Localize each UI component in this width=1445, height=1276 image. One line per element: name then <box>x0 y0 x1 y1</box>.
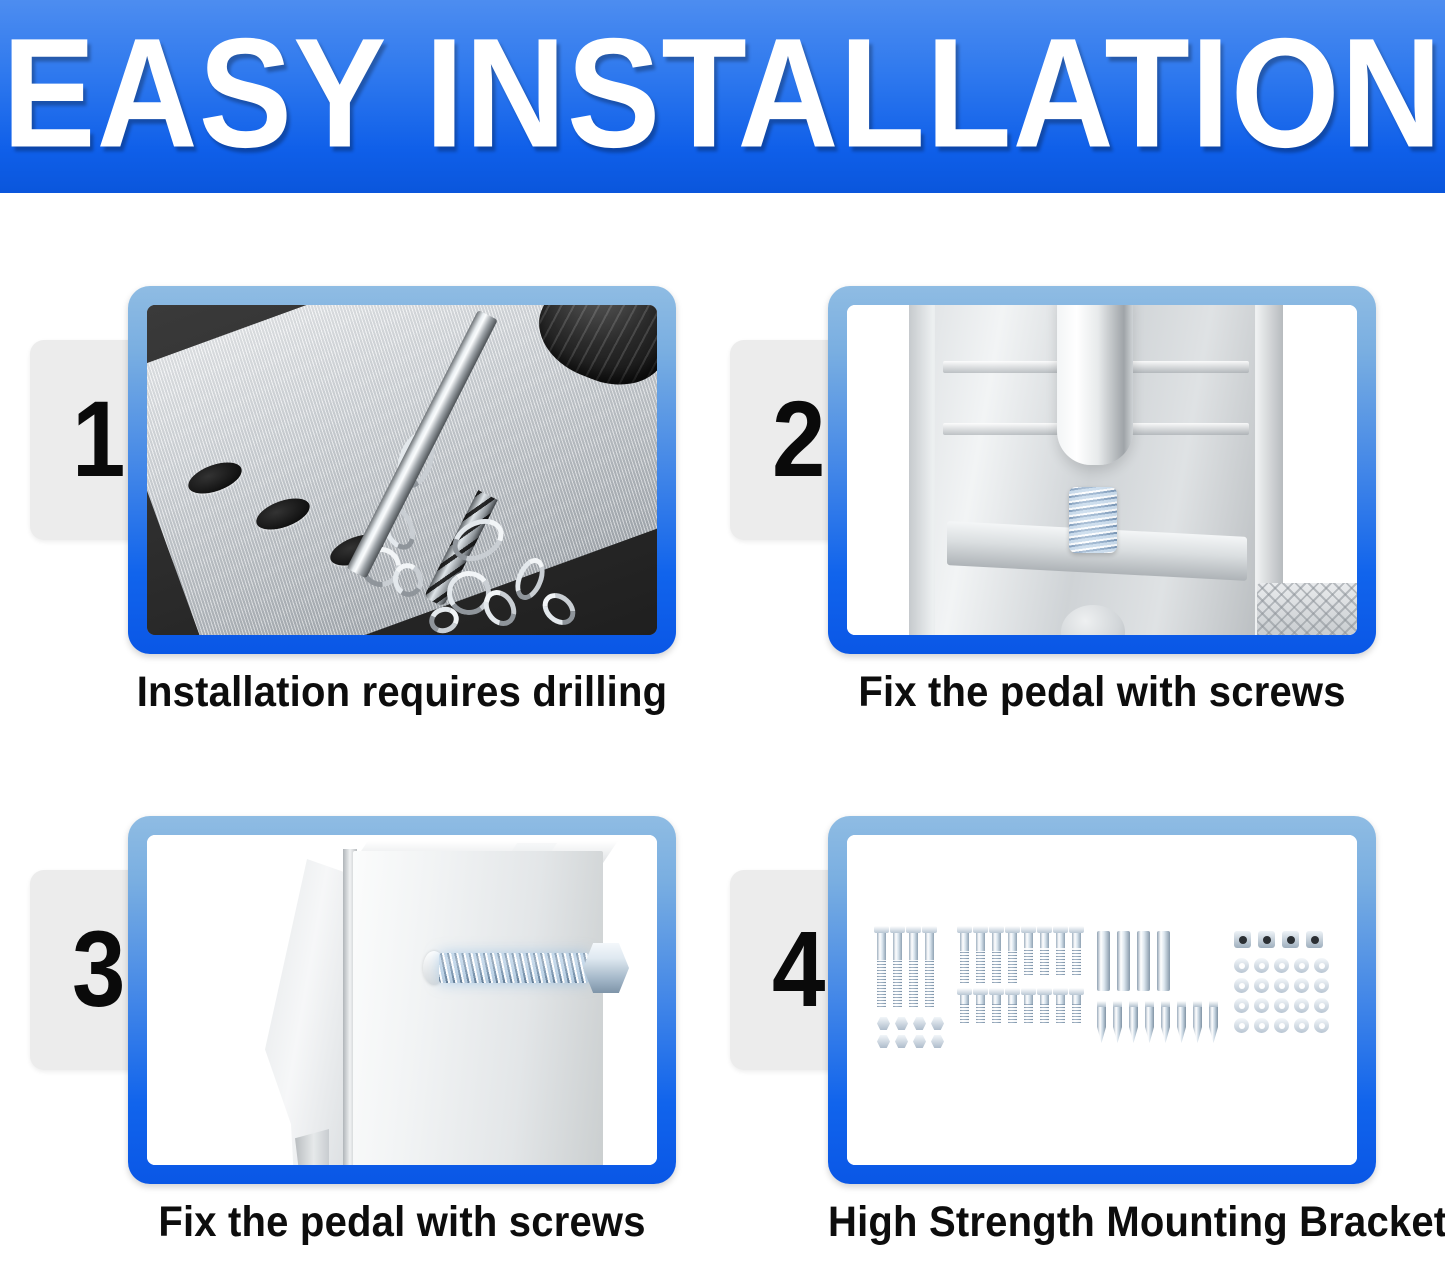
step-number-2: 2 <box>772 386 825 494</box>
washer-icon <box>1314 958 1329 973</box>
drilling-illustration <box>147 305 657 635</box>
medium-bolt-icon <box>960 931 969 983</box>
spacer-sleeve-icon <box>1097 931 1110 991</box>
easy-installation-infographic: EASY INSTALLATION 1 <box>0 0 1445 1276</box>
hex-nut-icon <box>913 1017 926 1030</box>
hex-nut-icon <box>895 1017 908 1030</box>
hardware-kit-illustration <box>847 835 1357 1165</box>
long-bolt-icon <box>893 931 902 1007</box>
step-image-4 <box>847 835 1357 1165</box>
medium-bolt-icon <box>992 931 1001 983</box>
self-tapping-screw-icon <box>1209 1001 1218 1043</box>
hex-nut-icon <box>877 1035 890 1048</box>
medium-bolt-icon <box>1024 931 1033 975</box>
step-number-3: 3 <box>72 916 125 1024</box>
set-screw-illustration <box>847 305 1357 635</box>
medium-bolt-icon <box>1056 931 1065 975</box>
step-number-4: 4 <box>772 916 825 1024</box>
kit-group-spacers <box>1097 931 1218 1043</box>
step-image-frame-3 <box>128 816 676 1184</box>
banner-title: EASY INSTALLATION <box>2 15 1443 178</box>
short-bolt-icon <box>1008 993 1017 1023</box>
hex-nut-icon <box>931 1035 944 1048</box>
long-bolt-row <box>877 931 944 1007</box>
self-tapping-screw-icon <box>1193 1001 1202 1043</box>
washer-icon <box>1254 1018 1269 1033</box>
medium-bolt-icon <box>1040 931 1049 975</box>
medium-bolt-row <box>960 931 1081 983</box>
hex-nut-icon <box>931 1017 944 1030</box>
washer-icon <box>1314 978 1329 993</box>
step-image-3 <box>147 835 657 1165</box>
short-bolt-icon <box>1072 993 1081 1023</box>
washer-icon <box>1274 1018 1289 1033</box>
step-card-4: 4 <box>700 808 1400 1276</box>
spacer-sleeve-icon <box>1117 931 1130 991</box>
kit-group-long-bolts <box>877 931 944 1048</box>
short-bolt-icon <box>976 993 985 1023</box>
spacer-sleeve-icon <box>1157 931 1170 991</box>
short-bolt-icon <box>960 993 969 1023</box>
spacer-sleeve-row <box>1097 931 1218 991</box>
kit-group-washers <box>1234 931 1329 1033</box>
step-image-1 <box>147 305 657 635</box>
step-caption-4: High Strength Mounting Bracket <box>828 1199 1376 1247</box>
kit-group-medium-bolts <box>960 931 1081 1023</box>
step-caption-3: Fix the pedal with screws <box>128 1199 676 1247</box>
step-image-frame-2 <box>828 286 1376 654</box>
washer-icon <box>1294 1018 1309 1033</box>
flange-nut-icon <box>1306 931 1323 948</box>
washer-icon <box>1274 978 1289 993</box>
medium-bolt-icon <box>1008 931 1017 983</box>
set-screw-icon <box>1069 487 1117 553</box>
washer-icon <box>1294 958 1309 973</box>
hex-nut-grid <box>877 1017 944 1048</box>
washer-icon <box>1254 978 1269 993</box>
step-card-3: 3 Fix the pedal <box>0 808 700 1276</box>
washer-icon <box>1314 998 1329 1013</box>
self-tapping-screw-icon <box>1161 1001 1170 1043</box>
hex-nut-icon <box>877 1017 890 1030</box>
short-bolt-icon <box>1024 993 1033 1023</box>
washer-icon <box>1274 958 1289 973</box>
washer-icon <box>1274 998 1289 1013</box>
washer-icon <box>1314 1018 1329 1033</box>
hardware-kit-layout <box>877 931 1357 1111</box>
short-bolt-icon <box>992 993 1001 1023</box>
flange-nut-row <box>1234 931 1329 948</box>
washer-icon <box>1234 1018 1249 1033</box>
step-caption-2: Fix the pedal with screws <box>828 669 1376 717</box>
hex-nut-icon <box>913 1035 926 1048</box>
step-image-2 <box>847 305 1357 635</box>
self-tapping-screw-icon <box>1177 1001 1186 1043</box>
step-card-2: 2 F <box>700 278 1400 798</box>
self-tapping-screw-icon <box>1145 1001 1154 1043</box>
washer-icon <box>1254 958 1269 973</box>
steps-grid: 1 <box>0 193 1445 1276</box>
spacer-sleeve-icon <box>1137 931 1150 991</box>
short-bolt-icon <box>1056 993 1065 1023</box>
bracket-bolt-illustration <box>147 835 657 1165</box>
self-tapping-screw-icon <box>1097 1001 1106 1043</box>
long-bolt-icon <box>877 931 886 1007</box>
header-banner: EASY INSTALLATION <box>0 0 1445 193</box>
step-card-1: 1 <box>0 278 700 798</box>
medium-bolt-icon <box>976 931 985 983</box>
flange-nut-icon <box>1234 931 1251 948</box>
step-image-frame-1 <box>128 286 676 654</box>
washer-grid <box>1234 958 1329 1033</box>
bracket-front-face <box>353 851 603 1165</box>
washer-icon <box>1234 958 1249 973</box>
self-tapping-screw-icon <box>1113 1001 1122 1043</box>
long-bolt-icon <box>925 931 934 1007</box>
self-tapping-screw-row <box>1097 1001 1218 1043</box>
washer-icon <box>1294 998 1309 1013</box>
flange-nut-icon <box>1282 931 1299 948</box>
short-bolt-row <box>960 993 1081 1023</box>
medium-bolt-icon <box>1072 931 1081 975</box>
short-bolt-icon <box>1040 993 1049 1023</box>
self-tapping-screw-icon <box>1129 1001 1138 1043</box>
step-caption-1: Installation requires drilling <box>128 669 676 717</box>
step-image-frame-4 <box>828 816 1376 1184</box>
step-number-1: 1 <box>72 386 125 494</box>
washer-icon <box>1234 978 1249 993</box>
washer-icon <box>1234 998 1249 1013</box>
pedal-post <box>1057 305 1133 465</box>
hex-bolt-shank <box>439 953 589 983</box>
washer-icon <box>1294 978 1309 993</box>
hex-nut-icon <box>895 1035 908 1048</box>
flange-nut-icon <box>1258 931 1275 948</box>
washer-icon <box>1254 998 1269 1013</box>
knurled-surface <box>1257 583 1357 635</box>
long-bolt-icon <box>909 931 918 1007</box>
